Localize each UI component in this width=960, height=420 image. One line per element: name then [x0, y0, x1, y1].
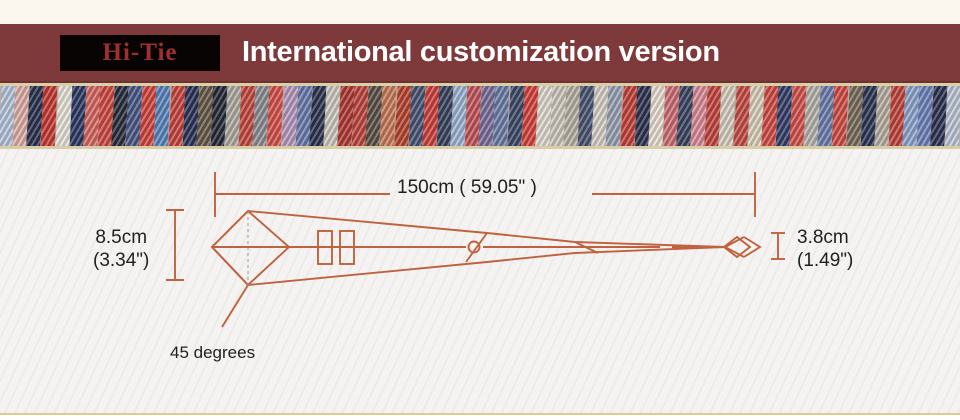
angle-leader-line [222, 285, 248, 327]
measurement-diagram-panel: 150cm ( 59.05" ) 8.5cm (3.34") 3.8cm (1.… [0, 149, 960, 413]
left-dimension-label: 8.5cm (3.34") [93, 226, 149, 272]
left-dimension-cm: 8.5cm [93, 226, 149, 249]
top-cream-strip [0, 0, 960, 24]
necktie-swatch [945, 86, 960, 146]
top-dimension-label: 150cm ( 59.05" ) [397, 176, 537, 199]
brand-logo-box: Hi-Tie [60, 35, 220, 71]
header-title: International customization version [242, 36, 720, 69]
necktie-swatch-row [0, 86, 960, 146]
blade-diamond [212, 211, 289, 285]
brand-logo-text: Hi-Tie [103, 39, 178, 67]
left-dimension-bar [166, 210, 184, 280]
right-dimension-cm: 3.8cm [797, 226, 853, 249]
bottom-white-pad [0, 415, 960, 420]
right-dimension-inch: (1.49") [797, 249, 853, 272]
right-dimension-label: 3.8cm (1.49") [797, 226, 853, 272]
angle-label: 45 degrees [170, 341, 255, 364]
right-dimension-bar [771, 233, 785, 259]
necktie-photo-strip [0, 81, 960, 151]
left-dimension-inch: (3.34") [93, 249, 149, 272]
brand-header-bar: Hi-Tie International customization versi… [0, 24, 960, 81]
product-banner: Hi-Tie International customization versi… [0, 0, 960, 420]
necktie-outline [212, 211, 760, 285]
